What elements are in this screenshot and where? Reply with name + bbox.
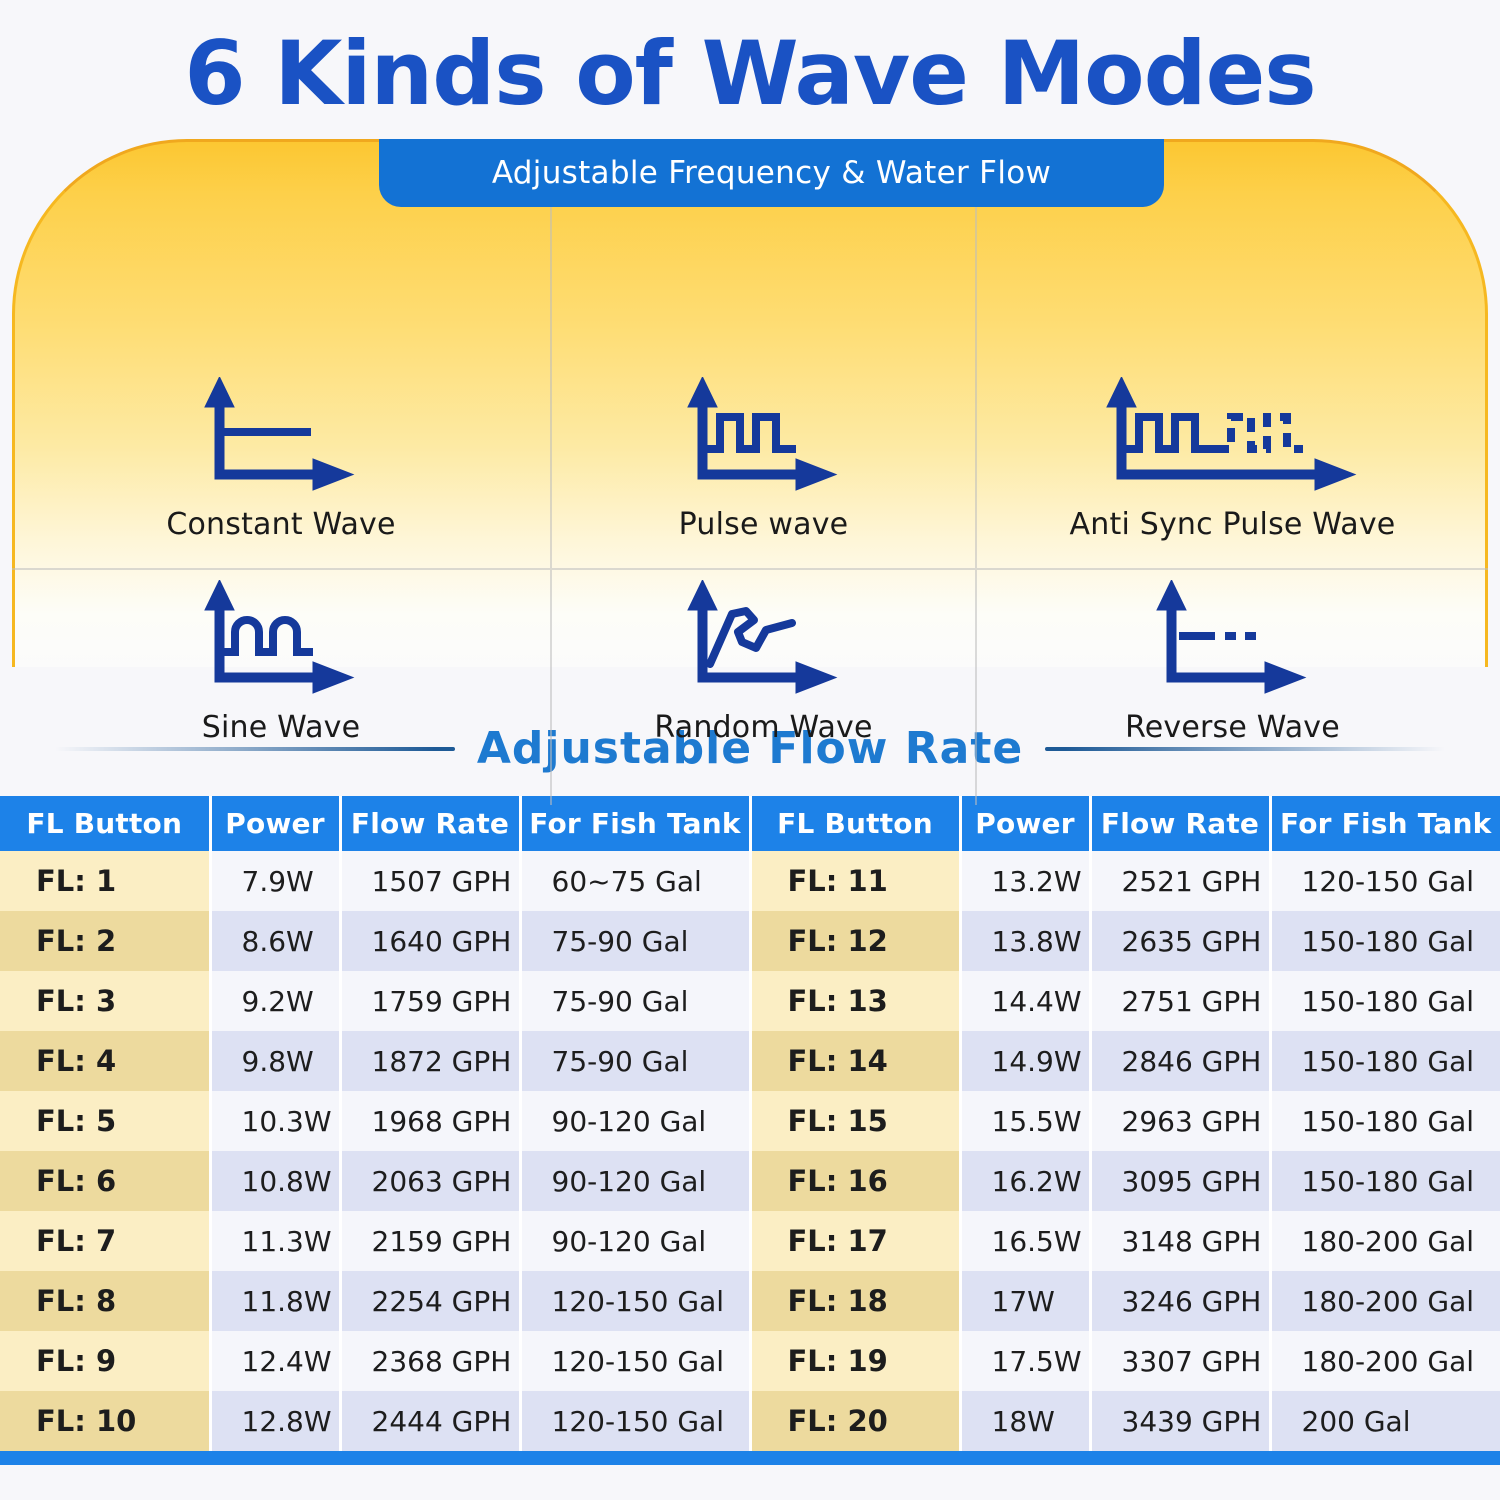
table-row: FL: 28.6W1640 GPH75-90 GalFL: 1213.8W263… <box>0 911 1500 971</box>
table-cell: 18W <box>960 1391 1090 1451</box>
table-cell: 180-200 Gal <box>1270 1331 1500 1391</box>
table-cell-fl-button: FL: 12 <box>750 911 960 971</box>
pulse-wave-icon <box>684 367 844 497</box>
table-cell: 1507 GPH <box>340 851 520 911</box>
table-cell-fl-button: FL: 7 <box>0 1211 210 1271</box>
constant-wave-icon <box>201 367 361 497</box>
table-cell: 14.9W <box>960 1031 1090 1091</box>
table-cell: 90-120 Gal <box>520 1091 750 1151</box>
table-cell: 3307 GPH <box>1090 1331 1270 1391</box>
table-row: FL: 711.3W2159 GPH90-120 GalFL: 1716.5W3… <box>0 1211 1500 1271</box>
table-body: FL: 17.9W1507 GPH60~75 GalFL: 1113.2W252… <box>0 851 1500 1451</box>
table-cell: 180-200 Gal <box>1270 1211 1500 1271</box>
table-cell-fl-button: FL: 18 <box>750 1271 960 1331</box>
table-cell-fl-button: FL: 6 <box>0 1151 210 1211</box>
table-cell: 150-180 Gal <box>1270 1151 1500 1211</box>
reverse-wave-icon <box>1153 570 1313 700</box>
table-cell: 17W <box>960 1271 1090 1331</box>
table-cell: 3246 GPH <box>1090 1271 1270 1331</box>
table-cell: 13.2W <box>960 851 1090 911</box>
table-cell: 3148 GPH <box>1090 1211 1270 1271</box>
table-cell: 13.8W <box>960 911 1090 971</box>
table-cell-fl-button: FL: 4 <box>0 1031 210 1091</box>
table-cell-fl-button: FL: 16 <box>750 1151 960 1211</box>
table-cell: 11.3W <box>210 1211 340 1271</box>
table-cell: 120-150 Gal <box>520 1331 750 1391</box>
table-cell-fl-button: FL: 15 <box>750 1091 960 1151</box>
table-cell: 12.8W <box>210 1391 340 1451</box>
table-cell: 7.9W <box>210 851 340 911</box>
table-cell: 3439 GPH <box>1090 1391 1270 1451</box>
table-cell: 150-180 Gal <box>1270 971 1500 1031</box>
table-cell: 2521 GPH <box>1090 851 1270 911</box>
table-cell-fl-button: FL: 19 <box>750 1331 960 1391</box>
table-cell: 180-200 Gal <box>1270 1271 1500 1331</box>
wave-mode-label: Constant Wave <box>166 507 395 542</box>
table-cell: 2159 GPH <box>340 1211 520 1271</box>
table-cell: 11.8W <box>210 1271 340 1331</box>
table-cell: 150-180 Gal <box>1270 911 1500 971</box>
table-cell-fl-button: FL: 13 <box>750 971 960 1031</box>
table-cell-fl-button: FL: 1 <box>0 851 210 911</box>
wave-mode-reverse-wave: Reverse Wave <box>977 570 1488 805</box>
table-cell: 60~75 Gal <box>520 851 750 911</box>
page-title: 6 Kinds of Wave Modes <box>0 0 1500 121</box>
table-cell-fl-button: FL: 2 <box>0 911 210 971</box>
table-row: FL: 912.4W2368 GPH120-150 GalFL: 1917.5W… <box>0 1331 1500 1391</box>
table-cell: 1759 GPH <box>340 971 520 1031</box>
table-cell-fl-button: FL: 3 <box>0 971 210 1031</box>
table-cell: 150-180 Gal <box>1270 1031 1500 1091</box>
table-cell: 75-90 Gal <box>520 911 750 971</box>
table-cell: 14.4W <box>960 971 1090 1031</box>
table-cell: 3095 GPH <box>1090 1151 1270 1211</box>
wave-modes-section: Constant Wave Pulse wave <box>4 127 1496 667</box>
table-cell: 2444 GPH <box>340 1391 520 1451</box>
table-cell-fl-button: FL: 9 <box>0 1331 210 1391</box>
wave-mode-label: Reverse Wave <box>1125 710 1340 745</box>
table-cell: 12.4W <box>210 1331 340 1391</box>
banner-adjustable-frequency: Adjustable Frequency & Water Flow <box>379 139 1164 207</box>
table-row: FL: 17.9W1507 GPH60~75 GalFL: 1113.2W252… <box>0 851 1500 911</box>
flow-rate-table: FL Button Power Flow Rate For Fish Tank … <box>0 796 1500 1451</box>
table-cell: 1968 GPH <box>340 1091 520 1151</box>
random-wave-icon <box>684 570 844 700</box>
wave-mode-label: Anti Sync Pulse Wave <box>1070 507 1396 542</box>
table-cell: 120-150 Gal <box>520 1271 750 1331</box>
table-cell-fl-button: FL: 5 <box>0 1091 210 1151</box>
table-cell: 150-180 Gal <box>1270 1091 1500 1151</box>
wave-mode-sine-wave: Sine Wave <box>12 570 552 805</box>
table-cell: 2635 GPH <box>1090 911 1270 971</box>
wave-modes-grid: Constant Wave Pulse wave <box>12 139 1488 667</box>
table-cell: 17.5W <box>960 1331 1090 1391</box>
table-row: FL: 510.3W1968 GPH90-120 GalFL: 1515.5W2… <box>0 1091 1500 1151</box>
table-row: FL: 610.8W2063 GPH90-120 GalFL: 1616.2W3… <box>0 1151 1500 1211</box>
table-cell: 120-150 Gal <box>1270 851 1500 911</box>
table-cell: 200 Gal <box>1270 1391 1500 1451</box>
table-cell-fl-button: FL: 11 <box>750 851 960 911</box>
table-cell-fl-button: FL: 10 <box>0 1391 210 1451</box>
table-cell: 16.2W <box>960 1151 1090 1211</box>
table-cell: 90-120 Gal <box>520 1151 750 1211</box>
table-row: FL: 39.2W1759 GPH75-90 GalFL: 1314.4W275… <box>0 971 1500 1031</box>
table-cell-fl-button: FL: 8 <box>0 1271 210 1331</box>
sine-wave-icon <box>201 570 361 700</box>
table-cell: 2063 GPH <box>340 1151 520 1211</box>
table-cell: 75-90 Gal <box>520 1031 750 1091</box>
table-cell: 9.8W <box>210 1031 340 1091</box>
table-footer-bar <box>0 1451 1500 1465</box>
table-cell: 120-150 Gal <box>520 1391 750 1451</box>
table-row: FL: 1012.8W2444 GPH120-150 GalFL: 2018W3… <box>0 1391 1500 1451</box>
table-cell: 1872 GPH <box>340 1031 520 1091</box>
table-cell-fl-button: FL: 14 <box>750 1031 960 1091</box>
table-cell: 8.6W <box>210 911 340 971</box>
table-cell-fl-button: FL: 20 <box>750 1391 960 1451</box>
table-cell: 2368 GPH <box>340 1331 520 1391</box>
table-cell: 2751 GPH <box>1090 971 1270 1031</box>
table-cell: 1640 GPH <box>340 911 520 971</box>
wave-mode-label: Sine Wave <box>202 710 361 745</box>
table-cell: 16.5W <box>960 1211 1090 1271</box>
table-row: FL: 49.8W1872 GPH75-90 GalFL: 1414.9W284… <box>0 1031 1500 1091</box>
table-cell: 2254 GPH <box>340 1271 520 1331</box>
table-cell: 90-120 Gal <box>520 1211 750 1271</box>
wave-mode-label: Pulse wave <box>679 507 849 542</box>
table-row: FL: 811.8W2254 GPH120-150 GalFL: 1817W32… <box>0 1271 1500 1331</box>
table-cell: 2846 GPH <box>1090 1031 1270 1091</box>
table-cell: 10.8W <box>210 1151 340 1211</box>
table-cell: 9.2W <box>210 971 340 1031</box>
table-cell: 15.5W <box>960 1091 1090 1151</box>
table-cell-fl-button: FL: 17 <box>750 1211 960 1271</box>
table-cell: 10.3W <box>210 1091 340 1151</box>
wave-mode-random-wave: Random Wave <box>552 570 977 805</box>
table-cell: 2963 GPH <box>1090 1091 1270 1151</box>
table-cell: 75-90 Gal <box>520 971 750 1031</box>
wave-mode-label: Random Wave <box>654 710 872 745</box>
anti-sync-pulse-wave-icon <box>1103 367 1363 497</box>
